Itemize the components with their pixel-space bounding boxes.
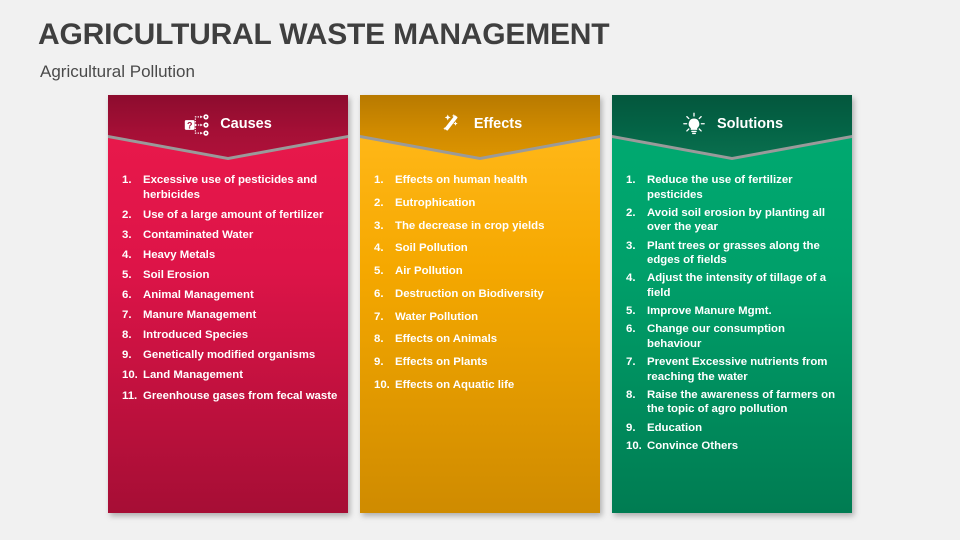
list-item-number: 6. bbox=[122, 288, 143, 303]
list-item-text: Genetically modified organisms bbox=[143, 348, 338, 363]
list-item-text: The decrease in crop yields bbox=[395, 219, 590, 234]
list-item-text: Water Pollution bbox=[395, 310, 590, 325]
list-item-number: 1. bbox=[626, 173, 647, 202]
list-item-number: 2. bbox=[122, 208, 143, 223]
column-causes: ? Causes 1.Excessive use of pesticides a… bbox=[108, 95, 348, 513]
list-item: 4.Soil Pollution bbox=[374, 241, 590, 256]
list-item-text: Raise the awareness of farmers on the to… bbox=[647, 388, 842, 417]
list-item-number: 7. bbox=[374, 310, 395, 325]
list-item: 1.Excessive use of pesticides and herbic… bbox=[122, 173, 338, 202]
list-item: 8.Introduced Species bbox=[122, 328, 338, 343]
page-title: AGRICULTURAL WASTE MANAGEMENT bbox=[38, 18, 609, 52]
list-item: 1.Effects on human health bbox=[374, 173, 590, 188]
list-item-number: 6. bbox=[626, 322, 647, 351]
list-item-text: Plant trees or grasses along the edges o… bbox=[647, 239, 842, 268]
list-item: 2.Avoid soil erosion by planting all ove… bbox=[626, 206, 842, 235]
list-item-text: Air Pollution bbox=[395, 264, 590, 279]
list-item-number: 8. bbox=[626, 388, 647, 417]
list-item: 9.Genetically modified organisms bbox=[122, 348, 338, 363]
list-item-text: Soil Erosion bbox=[143, 268, 338, 283]
list-item: 6.Destruction on Biodiversity bbox=[374, 287, 590, 302]
solutions-list: 1.Reduce the use of fertilizer pesticide… bbox=[612, 173, 852, 457]
list-item: 7.Water Pollution bbox=[374, 310, 590, 325]
list-item: 9.Effects on Plants bbox=[374, 355, 590, 370]
svg-text:?: ? bbox=[187, 120, 192, 130]
list-item-text: Excessive use of pesticides and herbicid… bbox=[143, 173, 338, 202]
list-item: 5.Air Pollution bbox=[374, 264, 590, 279]
list-item-number: 3. bbox=[374, 219, 395, 234]
list-item-text: Improve Manure Mgmt. bbox=[647, 304, 842, 319]
list-item-number: 1. bbox=[374, 173, 395, 188]
list-item-number: 11. bbox=[122, 389, 143, 404]
list-item-text: Animal Management bbox=[143, 288, 338, 303]
column-solutions-heading: Solutions bbox=[717, 112, 783, 136]
list-item-number: 7. bbox=[122, 308, 143, 323]
list-item-text: Contaminated Water bbox=[143, 228, 338, 243]
list-item: 6.Animal Management bbox=[122, 288, 338, 303]
list-item-text: Avoid soil erosion by planting all over … bbox=[647, 206, 842, 235]
list-item: 4.Adjust the intensity of tillage of a f… bbox=[626, 271, 842, 300]
list-item-text: Greenhouse gases from fecal waste bbox=[143, 389, 338, 404]
list-item-text: Education bbox=[647, 421, 842, 436]
list-item-number: 3. bbox=[122, 228, 143, 243]
columns-container: ? Causes 1.Excessive use of pesticides a… bbox=[0, 95, 960, 520]
list-item: 9.Education bbox=[626, 421, 842, 436]
list-item-number: 2. bbox=[374, 196, 395, 211]
list-item-text: Convince Others bbox=[647, 439, 842, 454]
list-item-number: 8. bbox=[122, 328, 143, 343]
list-item-number: 4. bbox=[626, 271, 647, 300]
magic-wand-icon bbox=[438, 112, 464, 138]
list-item: 3.Contaminated Water bbox=[122, 228, 338, 243]
list-item-text: Effects on Aquatic life bbox=[395, 378, 590, 393]
list-item-text: Adjust the intensity of tillage of a fie… bbox=[647, 271, 842, 300]
column-effects-heading: Effects bbox=[474, 112, 522, 136]
column-effects: Effects 1.Effects on human health 2.Eutr… bbox=[360, 95, 600, 513]
list-item: 11.Greenhouse gases from fecal waste bbox=[122, 389, 338, 404]
list-item-text: Change our consumption behaviour bbox=[647, 322, 842, 351]
lightbulb-icon bbox=[681, 112, 707, 138]
list-item: 8.Effects on Animals bbox=[374, 332, 590, 347]
list-item: 1.Reduce the use of fertilizer pesticide… bbox=[626, 173, 842, 202]
column-causes-heading: Causes bbox=[220, 112, 272, 136]
list-item-text: Effects on human health bbox=[395, 173, 590, 188]
page-subtitle: Agricultural Pollution bbox=[40, 62, 195, 82]
list-item-number: 3. bbox=[626, 239, 647, 268]
list-item-number: 4. bbox=[122, 248, 143, 263]
list-item: 5.Improve Manure Mgmt. bbox=[626, 304, 842, 319]
list-item: 7.Manure Management bbox=[122, 308, 338, 323]
list-item-text: Effects on Animals bbox=[395, 332, 590, 347]
list-item: 7.Prevent Excessive nutrients from reach… bbox=[626, 355, 842, 384]
list-item-text: Eutrophication bbox=[395, 196, 590, 211]
list-item-text: Prevent Excessive nutrients from reachin… bbox=[647, 355, 842, 384]
list-item-text: Soil Pollution bbox=[395, 241, 590, 256]
list-item: 4.Heavy Metals bbox=[122, 248, 338, 263]
list-item-number: 2. bbox=[626, 206, 647, 235]
list-item-number: 10. bbox=[626, 439, 647, 454]
list-item-text: Introduced Species bbox=[143, 328, 338, 343]
list-item: 6.Change our consumption behaviour bbox=[626, 322, 842, 351]
list-item-text: Land Management bbox=[143, 368, 338, 383]
list-item-number: 9. bbox=[122, 348, 143, 363]
list-item: 2.Use of a large amount of fertilizer bbox=[122, 208, 338, 223]
list-item: 10.Land Management bbox=[122, 368, 338, 383]
list-item-number: 6. bbox=[374, 287, 395, 302]
list-item: 10.Effects on Aquatic life bbox=[374, 378, 590, 393]
list-item-text: Heavy Metals bbox=[143, 248, 338, 263]
list-item-number: 4. bbox=[374, 241, 395, 256]
list-item-number: 7. bbox=[626, 355, 647, 384]
list-item-text: Manure Management bbox=[143, 308, 338, 323]
list-item: 8.Raise the awareness of farmers on the … bbox=[626, 388, 842, 417]
column-solutions: Solutions 1.Reduce the use of fertilizer… bbox=[612, 95, 852, 513]
causes-list: 1.Excessive use of pesticides and herbic… bbox=[108, 173, 348, 409]
list-item-number: 9. bbox=[374, 355, 395, 370]
list-item: 3.Plant trees or grasses along the edges… bbox=[626, 239, 842, 268]
list-item-number: 8. bbox=[374, 332, 395, 347]
list-item-number: 10. bbox=[374, 378, 395, 393]
list-item-number: 5. bbox=[374, 264, 395, 279]
list-item-text: Effects on Plants bbox=[395, 355, 590, 370]
question-box-icon: ? bbox=[184, 112, 210, 138]
list-item-text: Use of a large amount of fertilizer bbox=[143, 208, 338, 223]
list-item: 5.Soil Erosion bbox=[122, 268, 338, 283]
list-item-text: Destruction on Biodiversity bbox=[395, 287, 590, 302]
list-item: 10.Convince Others bbox=[626, 439, 842, 454]
list-item-number: 9. bbox=[626, 421, 647, 436]
list-item-number: 5. bbox=[626, 304, 647, 319]
list-item-number: 1. bbox=[122, 173, 143, 202]
list-item: 3.The decrease in crop yields bbox=[374, 219, 590, 234]
list-item-text: Reduce the use of fertilizer pesticides bbox=[647, 173, 842, 202]
list-item-number: 10. bbox=[122, 368, 143, 383]
effects-list: 1.Effects on human health 2.Eutrophicati… bbox=[360, 173, 600, 401]
list-item-number: 5. bbox=[122, 268, 143, 283]
list-item: 2.Eutrophication bbox=[374, 196, 590, 211]
